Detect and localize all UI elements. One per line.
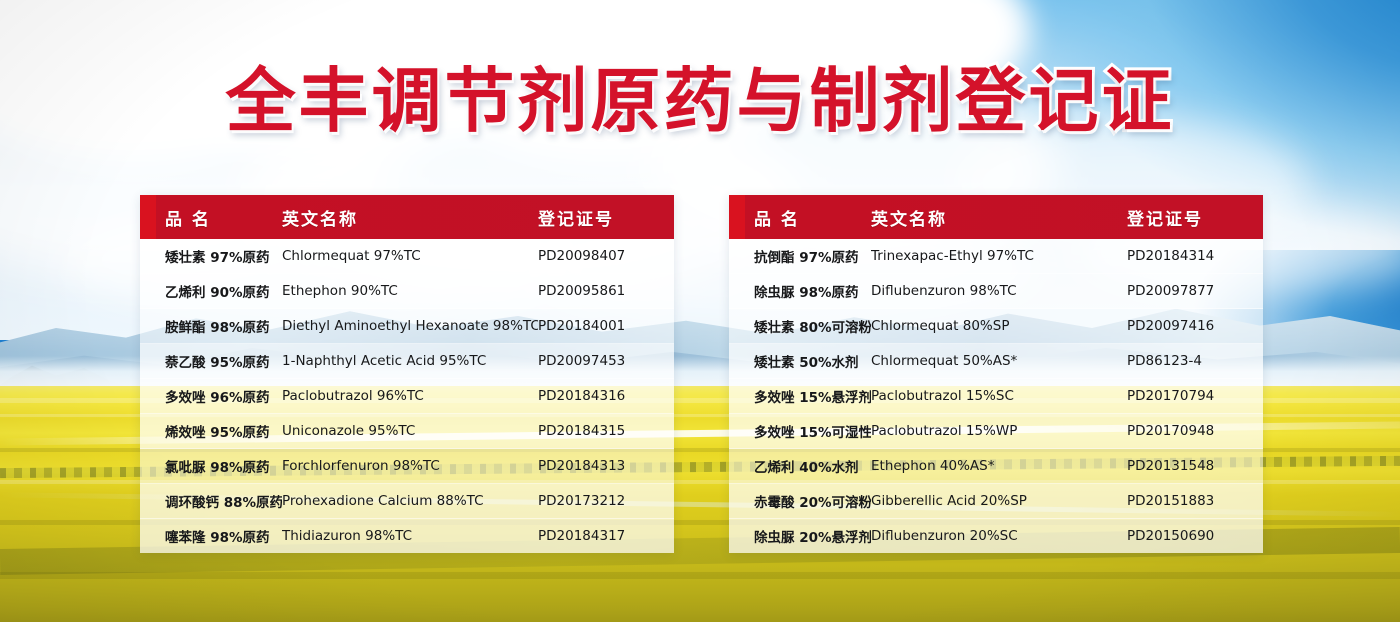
cell-registration-number: PD20170948 bbox=[1127, 423, 1263, 439]
cell-registration-number: PD20184001 bbox=[538, 318, 674, 334]
cell-english-name: Chlormequat 97%TC bbox=[282, 248, 538, 264]
cell-registration-number: PD20097877 bbox=[1127, 283, 1263, 299]
table-row: 乙烯利 90%原药Ethephon 90%TCPD20095861 bbox=[140, 274, 674, 309]
cell-product-name: 多效唑 96%原药 bbox=[140, 386, 282, 406]
table-row: 调环酸钙 88%原药Prohexadione Calcium 88%TCPD20… bbox=[140, 484, 674, 519]
table-header-row: 品 名 英文名称 登记证号 bbox=[140, 195, 674, 239]
table-body: 矮壮素 97%原药Chlormequat 97%TCPD20098407乙烯利 … bbox=[140, 239, 674, 553]
cell-registration-number: PD20097416 bbox=[1127, 318, 1263, 334]
cell-english-name: Diflubenzuron 20%SC bbox=[871, 528, 1127, 544]
table-row: 矮壮素 50%水剂Chlormequat 50%AS*PD86123-4 bbox=[729, 344, 1263, 379]
column-header-product-name: 品 名 bbox=[729, 205, 871, 230]
cell-registration-number: PD20131548 bbox=[1127, 458, 1263, 474]
cell-registration-number: PD20173212 bbox=[538, 493, 674, 509]
column-header-product-name: 品 名 bbox=[140, 205, 282, 230]
table-header-row: 品 名 英文名称 登记证号 bbox=[729, 195, 1263, 239]
cell-english-name: Prohexadione Calcium 88%TC bbox=[282, 493, 538, 509]
column-header-registration-number: 登记证号 bbox=[1127, 205, 1263, 230]
table-row: 多效唑 96%原药Paclobutrazol 96%TCPD20184316 bbox=[140, 379, 674, 414]
cell-english-name: Diflubenzuron 98%TC bbox=[871, 283, 1127, 299]
cell-product-name: 除虫脲 98%原药 bbox=[729, 281, 871, 301]
registration-table-left: 品 名 英文名称 登记证号 矮壮素 97%原药Chlormequat 97%TC… bbox=[140, 195, 674, 553]
table-row: 烯效唑 95%原药Uniconazole 95%TCPD20184315 bbox=[140, 414, 674, 449]
cell-english-name: Uniconazole 95%TC bbox=[282, 423, 538, 439]
cell-registration-number: PD20151883 bbox=[1127, 493, 1263, 509]
cell-product-name: 乙烯利 90%原药 bbox=[140, 281, 282, 301]
cell-registration-number: PD20150690 bbox=[1127, 528, 1263, 544]
cell-product-name: 矮壮素 97%原药 bbox=[140, 246, 282, 266]
table-row: 除虫脲 98%原药Diflubenzuron 98%TCPD20097877 bbox=[729, 274, 1263, 309]
cell-registration-number: PD20184313 bbox=[538, 458, 674, 474]
cell-registration-number: PD86123-4 bbox=[1127, 353, 1263, 369]
cell-english-name: Ethephon 90%TC bbox=[282, 283, 538, 299]
cell-product-name: 噻苯隆 98%原药 bbox=[140, 526, 282, 546]
registration-table-right: 品 名 英文名称 登记证号 抗倒酯 97%原药Trinexapac-Ethyl … bbox=[729, 195, 1263, 553]
cell-registration-number: PD20170794 bbox=[1127, 388, 1263, 404]
cell-english-name: Trinexapac-Ethyl 97%TC bbox=[871, 248, 1127, 264]
column-header-english-name: 英文名称 bbox=[282, 205, 538, 230]
cell-registration-number: PD20184315 bbox=[538, 423, 674, 439]
cell-english-name: Paclobutrazol 15%SC bbox=[871, 388, 1127, 404]
cell-english-name: Gibberellic Acid 20%SP bbox=[871, 493, 1127, 509]
cell-product-name: 乙烯利 40%水剂 bbox=[729, 456, 871, 476]
column-header-english-name: 英文名称 bbox=[871, 205, 1127, 230]
cell-registration-number: PD20184317 bbox=[538, 528, 674, 544]
table-row: 萘乙酸 95%原药1-Naphthyl Acetic Acid 95%TCPD2… bbox=[140, 344, 674, 379]
cell-english-name: Ethephon 40%AS* bbox=[871, 458, 1127, 474]
cell-product-name: 胺鲜酯 98%原药 bbox=[140, 316, 282, 336]
cell-product-name: 萘乙酸 95%原药 bbox=[140, 351, 282, 371]
cell-product-name: 赤霉酸 20%可溶粉剂 bbox=[729, 491, 871, 511]
table-row: 赤霉酸 20%可溶粉剂Gibberellic Acid 20%SPPD20151… bbox=[729, 484, 1263, 519]
table-row: 矮壮素 97%原药Chlormequat 97%TCPD20098407 bbox=[140, 239, 674, 274]
cell-english-name: Thidiazuron 98%TC bbox=[282, 528, 538, 544]
cell-english-name: Diethyl Aminoethyl Hexanoate 98%TC bbox=[282, 318, 538, 334]
table-row: 多效唑 15%悬浮剂Paclobutrazol 15%SCPD20170794 bbox=[729, 379, 1263, 414]
cell-product-name: 调环酸钙 88%原药 bbox=[140, 491, 282, 511]
table-row: 胺鲜酯 98%原药Diethyl Aminoethyl Hexanoate 98… bbox=[140, 309, 674, 344]
cell-english-name: Chlormequat 80%SP bbox=[871, 318, 1127, 334]
cell-english-name: Paclobutrazol 15%WP bbox=[871, 423, 1127, 439]
column-header-registration-number: 登记证号 bbox=[538, 205, 674, 230]
table-row: 多效唑 15%可湿性粉剂Paclobutrazol 15%WPPD2017094… bbox=[729, 414, 1263, 449]
cell-registration-number: PD20097453 bbox=[538, 353, 674, 369]
cell-product-name: 氯吡脲 98%原药 bbox=[140, 456, 282, 476]
cell-product-name: 矮壮素 50%水剂 bbox=[729, 351, 871, 371]
cell-product-name: 抗倒酯 97%原药 bbox=[729, 246, 871, 266]
cell-product-name: 多效唑 15%悬浮剂 bbox=[729, 386, 871, 406]
table-row: 氯吡脲 98%原药Forchlorfenuron 98%TCPD20184313 bbox=[140, 449, 674, 484]
table-body: 抗倒酯 97%原药Trinexapac-Ethyl 97%TCPD2018431… bbox=[729, 239, 1263, 553]
table-row: 抗倒酯 97%原药Trinexapac-Ethyl 97%TCPD2018431… bbox=[729, 239, 1263, 274]
table-row: 噻苯隆 98%原药Thidiazuron 98%TCPD20184317 bbox=[140, 519, 674, 553]
cell-product-name: 多效唑 15%可湿性粉剂 bbox=[729, 421, 871, 441]
table-row: 矮壮素 80%可溶粉剂Chlormequat 80%SPPD20097416 bbox=[729, 309, 1263, 344]
table-row: 除虫脲 20%悬浮剂Diflubenzuron 20%SCPD20150690 bbox=[729, 519, 1263, 553]
cell-product-name: 烯效唑 95%原药 bbox=[140, 421, 282, 441]
cell-english-name: Paclobutrazol 96%TC bbox=[282, 388, 538, 404]
cell-product-name: 除虫脲 20%悬浮剂 bbox=[729, 526, 871, 546]
cell-product-name: 矮壮素 80%可溶粉剂 bbox=[729, 316, 871, 336]
cell-registration-number: PD20095861 bbox=[538, 283, 674, 299]
cell-registration-number: PD20184314 bbox=[1127, 248, 1263, 264]
cell-english-name: 1-Naphthyl Acetic Acid 95%TC bbox=[282, 353, 538, 369]
table-row: 乙烯利 40%水剂Ethephon 40%AS*PD20131548 bbox=[729, 449, 1263, 484]
cell-english-name: Forchlorfenuron 98%TC bbox=[282, 458, 538, 474]
cell-english-name: Chlormequat 50%AS* bbox=[871, 353, 1127, 369]
cell-registration-number: PD20184316 bbox=[538, 388, 674, 404]
cell-registration-number: PD20098407 bbox=[538, 248, 674, 264]
